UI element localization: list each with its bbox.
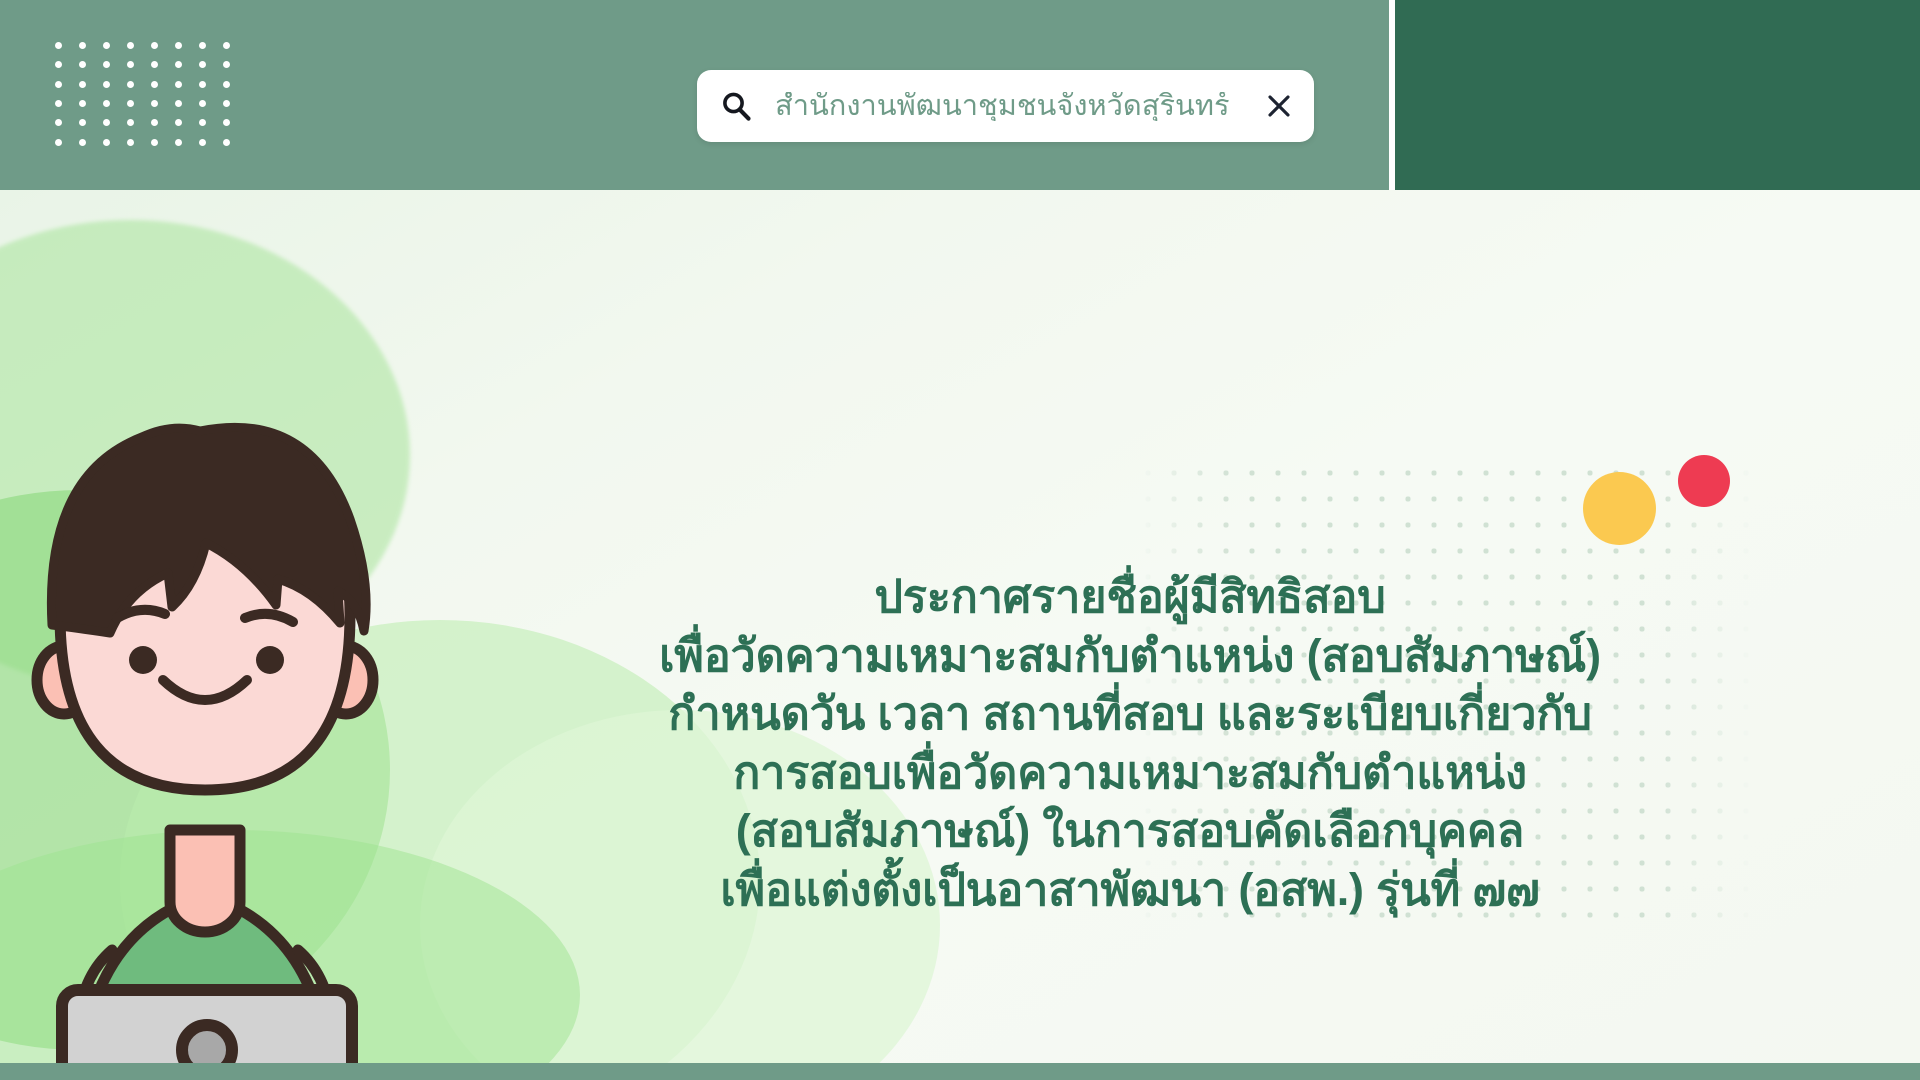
student-with-laptop-illustration (20, 350, 480, 1080)
footer-bar (0, 1063, 1920, 1080)
decorative-circle-yellow (1583, 472, 1656, 545)
title-line: ประกาศรายชื่อผู้มีสิทธิสอบ (500, 568, 1760, 627)
page-title: ประกาศรายชื่อผู้มีสิทธิสอบ เพื่อวัดความเ… (500, 568, 1760, 919)
page-root: สำนักงานพัฒนาชุมชนจังหวัดสุรินทร์ (0, 0, 1920, 1080)
title-line: กำหนดวัน เวลา สถานที่สอบ และระเบียบเกี่ย… (500, 685, 1760, 744)
close-icon[interactable] (1244, 70, 1314, 142)
title-line: การสอบเพื่อวัดความเหมาะสมกับตำแหน่ง (500, 744, 1760, 803)
title-line: เพื่อแต่งตั้งเป็นอาสาพัฒนา (อสพ.) รุ่นที… (500, 861, 1760, 920)
header-left-panel: สำนักงานพัฒนาชุมชนจังหวัดสุรินทร์ (0, 0, 1389, 190)
title-line: (สอบสัมภาษณ์) ในการสอบคัดเลือกบุคคล (500, 802, 1760, 861)
search-bar[interactable]: สำนักงานพัฒนาชุมชนจังหวัดสุรินทร์ (697, 70, 1314, 142)
header-right-panel (1395, 0, 1920, 190)
search-input[interactable]: สำนักงานพัฒนาชุมชนจังหวัดสุรินทร์ (775, 92, 1244, 121)
site-header: สำนักงานพัฒนาชุมชนจังหวัดสุรินทร์ (0, 0, 1920, 190)
main-content: ประกาศรายชื่อผู้มีสิทธิสอบ เพื่อวัดความเ… (0, 190, 1920, 1080)
search-icon[interactable] (697, 70, 775, 142)
decorative-circle-red-top (1678, 455, 1730, 507)
title-line: เพื่อวัดความเหมาะสมกับตำแหน่ง (สอบสัมภาษ… (500, 627, 1760, 686)
dot-grid-decoration (46, 36, 238, 152)
